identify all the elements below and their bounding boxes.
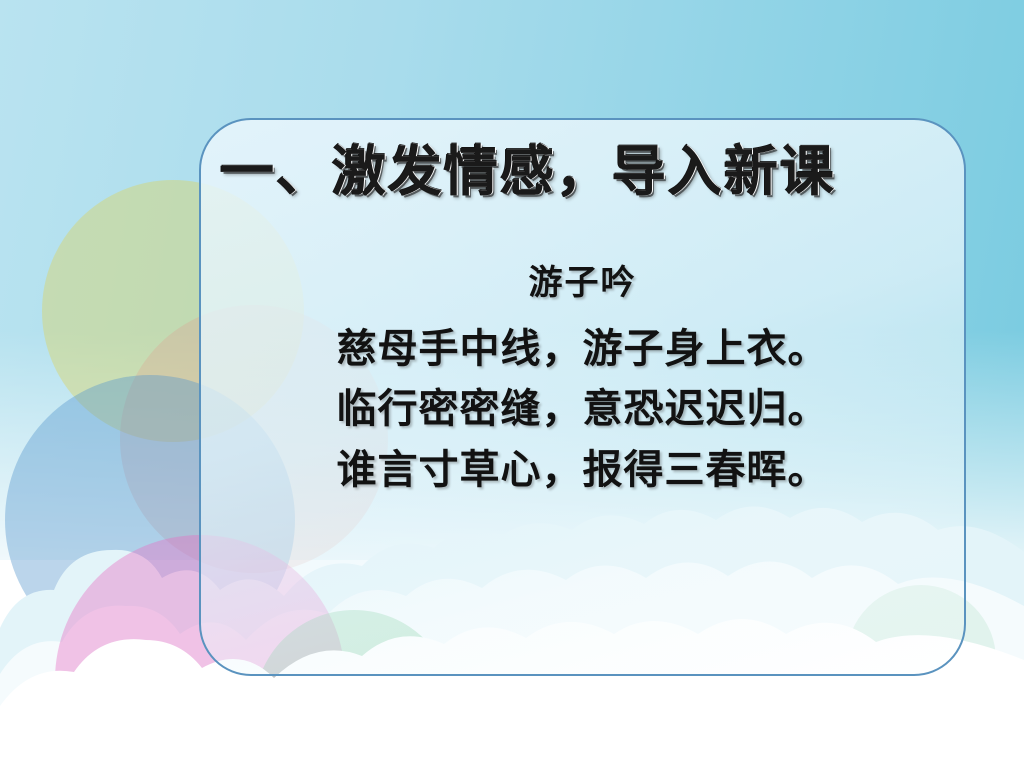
poem-title: 游子吟 [199, 262, 966, 305]
poem-line-3: 谁言寸草心，报得三春晖。 [199, 440, 966, 501]
presentation-slide: 一、激发情感，导入新课 游子吟 慈母手中线，游子身上衣。 临行密密缝，意恐迟迟归… [0, 0, 1024, 768]
poem-block: 游子吟 慈母手中线，游子身上衣。 临行密密缝，意恐迟迟归。 谁言寸草心，报得三春… [199, 262, 966, 501]
poem-line-2: 临行密密缝，意恐迟迟归。 [199, 379, 966, 440]
section-heading: 一、激发情感，导入新课 [220, 142, 940, 201]
poem-line-1: 慈母手中线，游子身上衣。 [199, 319, 966, 380]
